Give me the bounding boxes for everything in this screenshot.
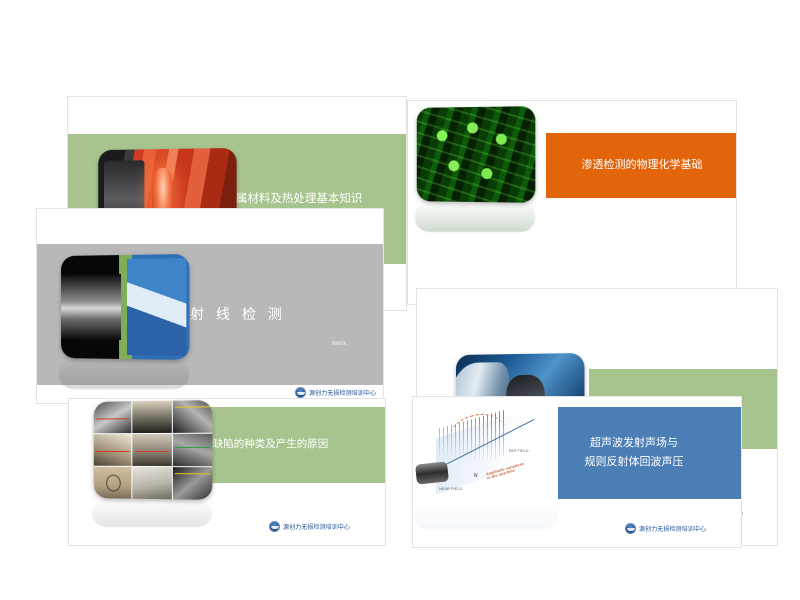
green-circuit-bottles-photo — [417, 106, 536, 203]
ultrasonic-beam-diagram-photo: FAR FIELD NEAR FIELD N Amplitude variati… — [413, 403, 558, 503]
footer-logo-text: 源创力无损检测培训中心 — [639, 524, 706, 533]
slide-defect-types[interactable]: 缺陷的种类及产生的原因 源创力无损检测培训中心 — [68, 398, 386, 546]
footer-logo-text: 源创力无损检测培训中心 — [309, 388, 376, 397]
slide-ultrasonic-field[interactable]: 超声波发射声场与 规则反射体回波声压 FAR FIELD NEAR FIELD … — [412, 396, 742, 548]
footer-logo: 源创力无损检测培训中心 — [295, 387, 376, 398]
slide-thumbnail-canvas: 金属材料及热处理基本知识 渗透检测的物理化学基础 射 线 检 测 Mark 源创… — [0, 0, 800, 600]
circular-seal-icon — [625, 523, 636, 534]
photo-reflection — [92, 499, 212, 527]
transducer-probe — [415, 461, 449, 484]
circular-seal-icon — [295, 387, 306, 398]
footer-logo-text: 源创力无损检测培训中心 — [283, 522, 350, 531]
far-field-label: FAR FIELD — [509, 449, 529, 453]
slide-title: 渗透检测的物理化学基础 — [546, 158, 737, 174]
footer-logo: 源创力无损检测培训中心 — [625, 523, 706, 534]
n-point-label: N — [474, 473, 478, 479]
title-band-orange: 渗透检测的物理化学基础 — [546, 133, 737, 198]
defect-micrograph-grid-photo — [94, 400, 213, 500]
slide-radiographic-testing[interactable]: 射 线 检 测 Mark 源创力无损检测培训中心 — [36, 208, 384, 404]
near-field-label: NEAR FIELD — [439, 487, 462, 491]
pipe-and-valve-photo — [61, 254, 189, 360]
slide-byline: Mark — [332, 341, 347, 347]
footer-logo: 源创力无损检测培训中心 — [269, 521, 350, 532]
slide-penetrant-testing[interactable]: 渗透检测的物理化学基础 — [407, 100, 737, 305]
photo-reflection — [413, 503, 558, 529]
photo-reflection — [415, 202, 535, 232]
circular-seal-icon — [269, 521, 280, 532]
